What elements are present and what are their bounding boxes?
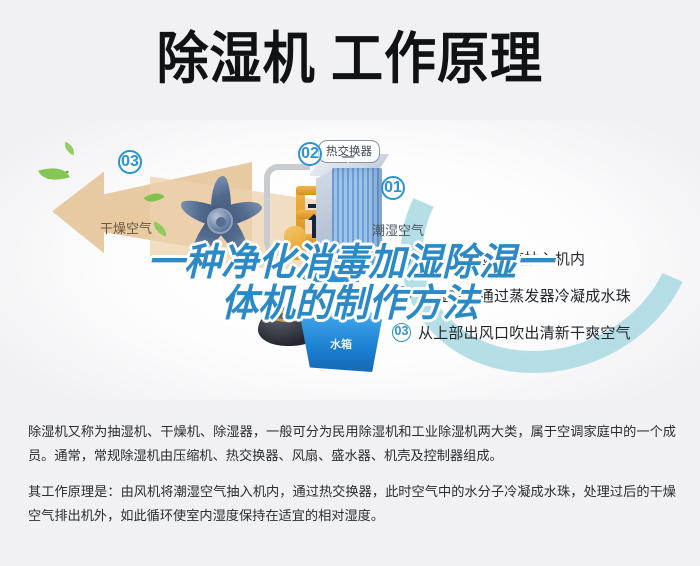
step-badge: 03 xyxy=(392,323,411,342)
step-badge: 02 xyxy=(392,286,411,305)
step-text: 从上部出风口吹出清新干爽空气 xyxy=(418,322,631,343)
water-tank-label: 水箱 xyxy=(330,336,352,352)
fan-hub xyxy=(207,208,233,234)
list-item: 03 从上部出风口吹出清新干爽空气 xyxy=(392,322,692,343)
diagram-badge-heat-exchanger: 02 xyxy=(298,142,322,166)
principle-steps-list: 01 风机将潮湿空气抽入机内 02 潮湿空气通过蒸发器冷凝成水珠 03 从上部出… xyxy=(392,248,692,359)
page-title-text: 除湿机 工作原理 xyxy=(157,26,543,92)
compressor-ring xyxy=(270,310,304,322)
heat-exchanger-illustration xyxy=(316,154,388,282)
body-paragraph-1: 除湿机又称为抽湿机、干燥机、除湿器，一般可分为民用除湿机和工业除湿机两大类，属于… xyxy=(28,420,676,467)
step-text: 潮湿空气通过蒸发器冷凝成水珠 xyxy=(418,285,631,306)
list-item: 01 风机将潮湿空气抽入机内 xyxy=(392,248,692,269)
fan-illustration xyxy=(165,168,273,272)
step-text: 风机将潮湿空气抽入机内 xyxy=(418,248,585,269)
page-root: 除湿机 工作原理 xyxy=(0,0,700,566)
diagram-badge-dry-air: 03 xyxy=(118,150,142,174)
diagram-badge-humid-air: 01 xyxy=(381,176,405,200)
heat-exchanger-callout: 热交换器 xyxy=(318,140,380,163)
body-paragraph-2: 其工作原理是：由风机将潮湿空气抽入机内，通过热交换器，此时空气中的水分子冷凝成水… xyxy=(28,480,676,527)
step-badge: 01 xyxy=(392,249,411,268)
list-item: 02 潮湿空气通过蒸发器冷凝成水珠 xyxy=(392,285,692,306)
article-body: 除湿机又称为抽湿机、干燥机、除湿器，一般可分为民用除湿机和工业除湿机两大类，属于… xyxy=(28,420,676,540)
copper-valve xyxy=(284,226,306,260)
page-title: 除湿机 工作原理 xyxy=(0,26,700,92)
dry-air-label: 干燥空气 xyxy=(100,218,152,237)
humid-air-label: 潮湿空气 xyxy=(372,220,424,239)
